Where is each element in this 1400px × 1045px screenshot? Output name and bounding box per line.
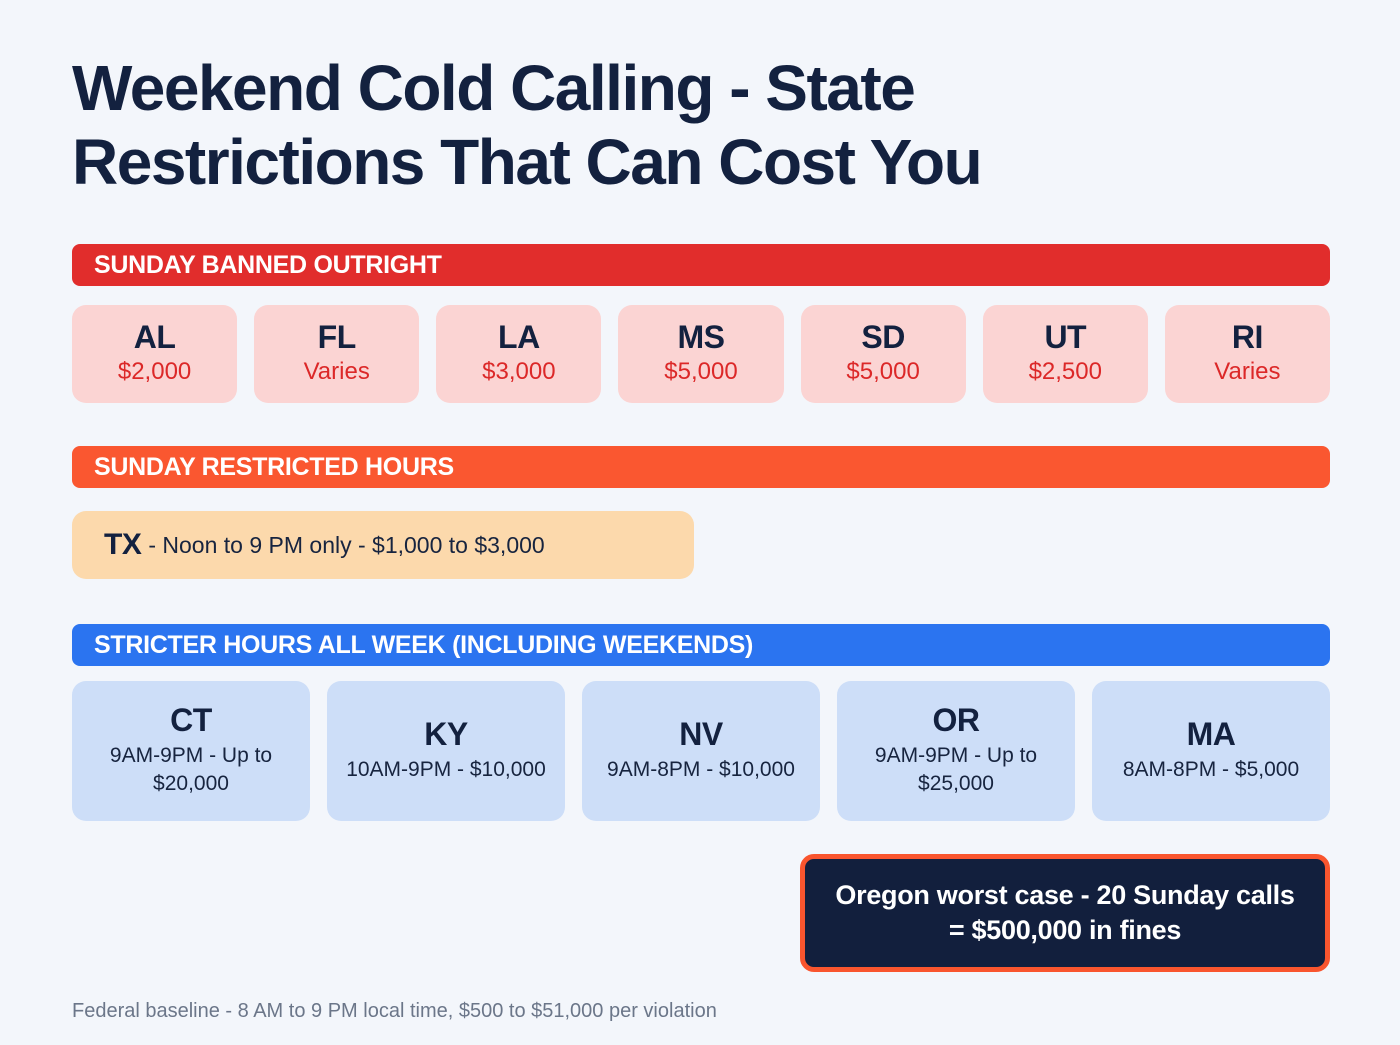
state-card: OR 9AM-9PM - Up to $25,000 — [837, 681, 1075, 821]
footer-note: Federal baseline - 8 AM to 9 PM local ti… — [72, 1000, 717, 1023]
state-abbr: NV — [679, 718, 722, 752]
state-detail: 8AM-8PM - $5,000 — [1123, 756, 1299, 784]
state-fine: $5,000 — [664, 357, 737, 387]
state-abbr: AL — [134, 321, 176, 355]
state-card: MS $5,000 — [618, 305, 783, 403]
state-fine: $5,000 — [846, 357, 919, 387]
state-detail: 9AM-9PM - Up to $25,000 — [843, 742, 1069, 797]
state-card-texas: TX - Noon to 9 PM only - $1,000 to $3,00… — [72, 511, 694, 579]
state-detail: 9AM-8PM - $10,000 — [607, 756, 795, 784]
callout-text: Oregon worst case - 20 Sunday calls = $5… — [829, 878, 1301, 948]
state-card: MA 8AM-8PM - $5,000 — [1092, 681, 1330, 821]
state-abbr: LA — [498, 321, 540, 355]
section-header-label: STRICTER HOURS ALL WEEK (INCLUDING WEEKE… — [94, 631, 753, 660]
state-abbr: UT — [1044, 321, 1086, 355]
section-header-sunday-restricted: SUNDAY RESTRICTED HOURS — [72, 446, 1330, 488]
state-abbr: KY — [424, 718, 467, 752]
state-fine: $3,000 — [482, 357, 555, 387]
state-abbr: MA — [1187, 718, 1236, 752]
state-fine: Varies — [304, 357, 370, 387]
state-detail: 10AM-9PM - $10,000 — [346, 756, 546, 784]
state-card-row-stricter: CT 9AM-9PM - Up to $20,000 KY 10AM-9PM -… — [72, 681, 1330, 821]
state-detail: - Noon to 9 PM only - $1,000 to $3,000 — [148, 532, 544, 559]
page-title: Weekend Cold Calling - State Restriction… — [72, 52, 1252, 199]
state-card: SD $5,000 — [801, 305, 966, 403]
section-header-label: SUNDAY RESTRICTED HOURS — [94, 453, 454, 482]
state-card: NV 9AM-8PM - $10,000 — [582, 681, 820, 821]
infographic-page: Weekend Cold Calling - State Restriction… — [0, 0, 1400, 1045]
state-abbr: FL — [318, 321, 356, 355]
state-fine: $2,500 — [1029, 357, 1102, 387]
state-abbr: OR — [933, 704, 980, 738]
callout-box-oregon-worst-case: Oregon worst case - 20 Sunday calls = $5… — [800, 854, 1330, 972]
state-card: CT 9AM-9PM - Up to $20,000 — [72, 681, 310, 821]
state-detail: 9AM-9PM - Up to $20,000 — [78, 742, 304, 797]
section-header-stricter-hours: STRICTER HOURS ALL WEEK (INCLUDING WEEKE… — [72, 624, 1330, 666]
state-abbr: SD — [861, 321, 904, 355]
section-header-sunday-banned: SUNDAY BANNED OUTRIGHT — [72, 244, 1330, 286]
state-card-row-banned: AL $2,000 FL Varies LA $3,000 MS $5,000 … — [72, 305, 1330, 403]
state-abbr: TX — [104, 528, 141, 562]
state-abbr: RI — [1232, 321, 1263, 355]
state-card: AL $2,000 — [72, 305, 237, 403]
state-card: RI Varies — [1165, 305, 1330, 403]
state-card: KY 10AM-9PM - $10,000 — [327, 681, 565, 821]
state-fine: $2,000 — [118, 357, 191, 387]
state-card: LA $3,000 — [436, 305, 601, 403]
state-abbr: MS — [677, 321, 724, 355]
state-card: FL Varies — [254, 305, 419, 403]
state-abbr: CT — [170, 704, 212, 738]
state-fine: Varies — [1214, 357, 1280, 387]
state-card: UT $2,500 — [983, 305, 1148, 403]
section-header-label: SUNDAY BANNED OUTRIGHT — [94, 251, 442, 280]
